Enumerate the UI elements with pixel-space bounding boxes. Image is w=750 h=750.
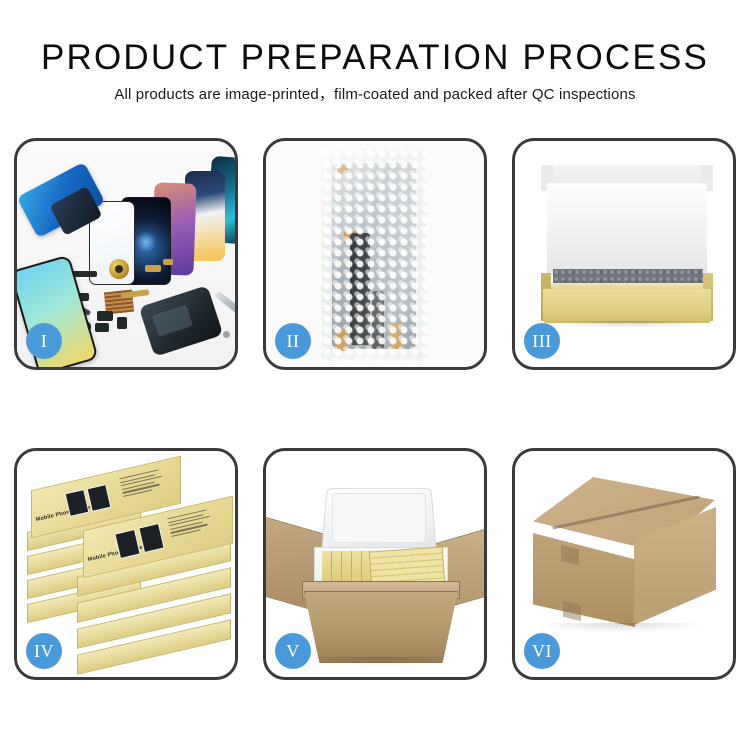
page-title: PRODUCT PREPARATION PROCESS xyxy=(0,38,750,78)
step-badge-2: II xyxy=(275,323,311,359)
page-header: PRODUCT PREPARATION PROCESS All products… xyxy=(0,0,750,105)
step-badge-1: I xyxy=(26,323,62,359)
process-step-panel-1[interactable]: I xyxy=(14,138,238,370)
step-badge-3: III xyxy=(524,323,560,359)
process-step-panel-5[interactable]: V xyxy=(263,448,487,680)
page-subtitle: All products are image-printed，film-coat… xyxy=(0,85,750,105)
process-step-panel-4[interactable]: Mobile Phone Spare Parts Mobile Phone Sp… xyxy=(14,448,238,680)
step-badge-5: V xyxy=(275,633,311,669)
process-step-panel-2[interactable]: II xyxy=(263,138,487,370)
step-badge-4: IV xyxy=(26,633,62,669)
process-step-panel-3[interactable]: III xyxy=(512,138,736,370)
step-badge-6: VI xyxy=(524,633,560,669)
process-step-panel-6[interactable]: VI xyxy=(512,448,736,680)
process-step-grid: I II xyxy=(14,138,736,680)
